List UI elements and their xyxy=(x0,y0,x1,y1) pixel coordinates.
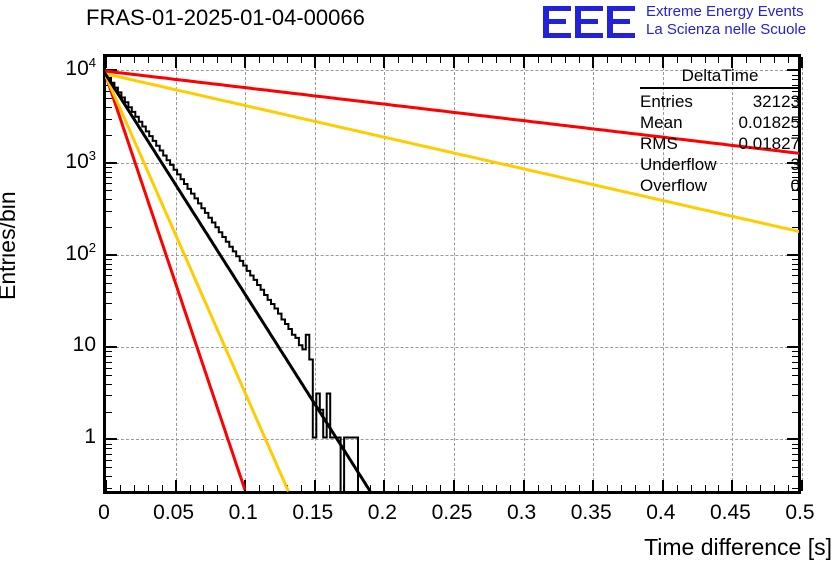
stats-row: Entries32123 xyxy=(640,91,800,112)
y-tick-label: 102 xyxy=(65,240,96,266)
stats-row: Overflow0 xyxy=(640,175,800,196)
x-tick-label: 0.1 xyxy=(229,501,258,525)
fit-curve-red-steep xyxy=(104,70,245,490)
stats-row: Mean0.01825 xyxy=(640,112,800,133)
histogram-deltatime xyxy=(104,73,358,493)
stats-row-value: 3 xyxy=(791,154,800,175)
x-tick-label: 0.05 xyxy=(153,501,194,525)
x-tick-label: 0.25 xyxy=(432,501,473,525)
x-tick-label: 0.5 xyxy=(785,501,814,525)
y-tick-label: 104 xyxy=(65,55,96,81)
stats-divider xyxy=(640,87,800,89)
stats-row: RMS0.01827 xyxy=(640,133,800,154)
fit-curve-yellow-steep xyxy=(104,72,288,492)
fit-curve-black-total xyxy=(104,72,370,492)
stats-row-value: 32123 xyxy=(753,91,800,112)
stats-title: DeltaTime xyxy=(640,66,800,87)
stats-row: Underflow3 xyxy=(640,154,800,175)
stats-row-key: Overflow xyxy=(640,175,713,196)
y-tick-label: 10 xyxy=(73,333,96,357)
x-tick-label: 0.4 xyxy=(646,501,675,525)
x-tick-label: 0.35 xyxy=(571,501,612,525)
stats-row-value: 0.01827 xyxy=(739,133,800,154)
root-canvas: FRAS-01-2025-01-04-00066 Extreme Energy … xyxy=(0,0,836,572)
stats-row-key: Mean xyxy=(640,112,689,133)
x-tick-label: 0.3 xyxy=(507,501,536,525)
y-tick-label: 1 xyxy=(84,425,96,449)
x-tick-label: 0.45 xyxy=(710,501,751,525)
stats-row-key: Underflow xyxy=(640,154,723,175)
stats-row-key: RMS xyxy=(640,133,684,154)
stats-box: DeltaTime Entries32123Mean0.01825RMS0.01… xyxy=(640,66,800,196)
stats-row-key: Entries xyxy=(640,91,699,112)
stats-row-value: 0 xyxy=(791,175,800,196)
x-tick-label: 0.15 xyxy=(292,501,333,525)
x-tick-label: 0 xyxy=(98,501,110,525)
x-tick-label: 0.2 xyxy=(368,501,397,525)
y-tick-label: 103 xyxy=(65,148,96,174)
stats-row-value: 0.01825 xyxy=(739,112,800,133)
